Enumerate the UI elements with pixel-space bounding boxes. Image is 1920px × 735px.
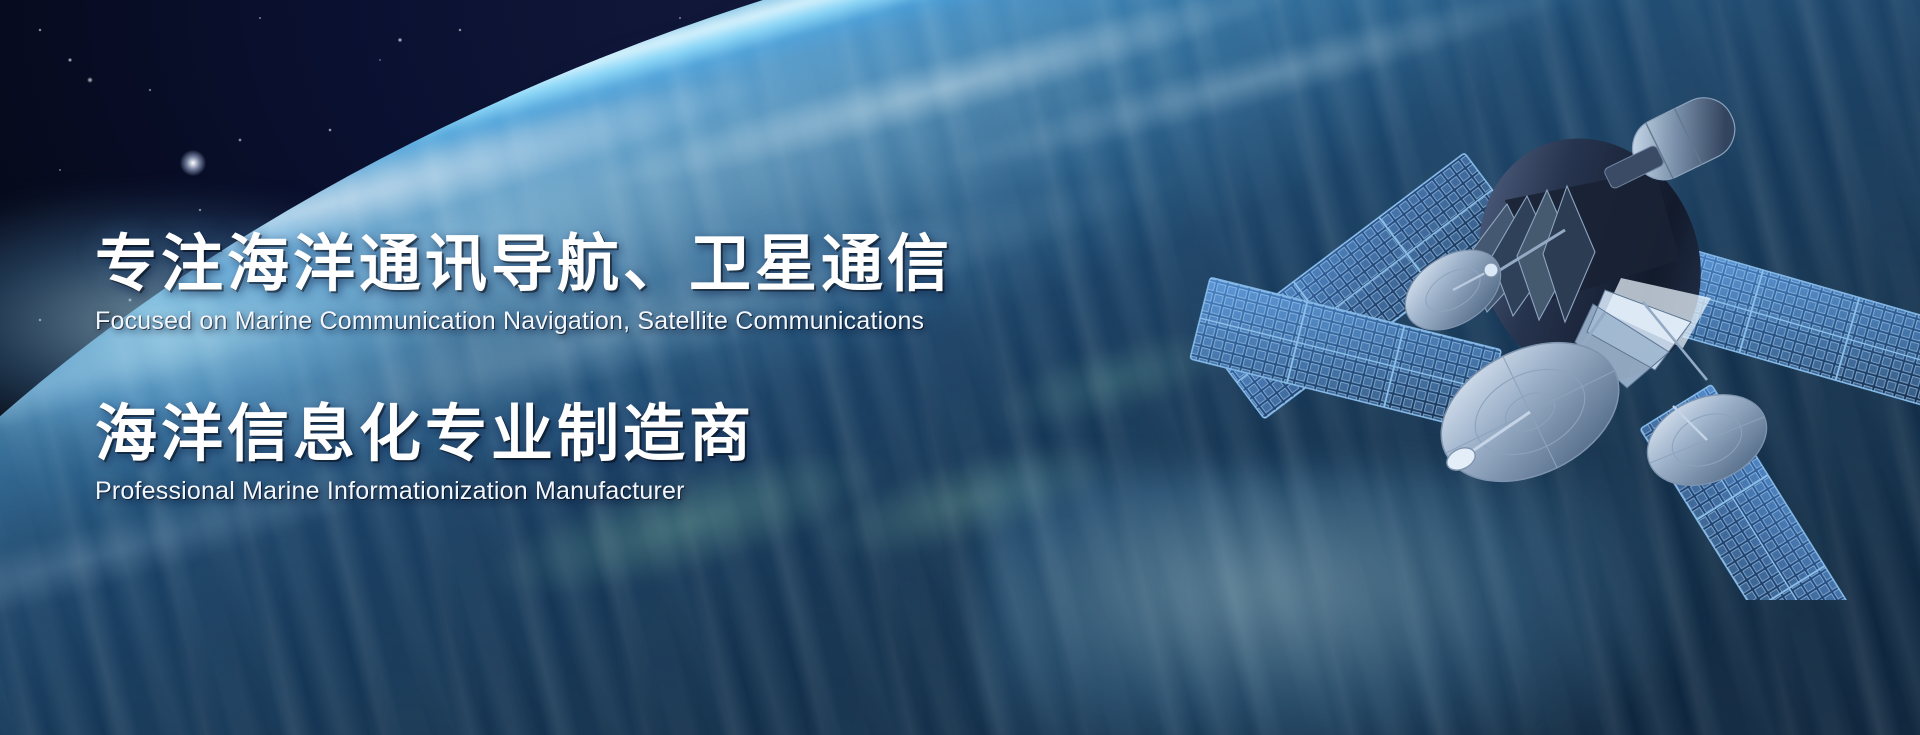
hero-banner: 专注海洋通讯导航、卫星通信 Focused on Marine Communic… — [0, 0, 1920, 735]
secondary-subline: Professional Marine Informationization M… — [95, 477, 1215, 506]
slogan-container: 专注海洋通讯导航、卫星通信 Focused on Marine Communic… — [95, 228, 1215, 568]
slogan-block-secondary: 海洋信息化专业制造商 Professional Marine Informati… — [95, 398, 1215, 506]
secondary-headline: 海洋信息化专业制造商 — [95, 398, 1215, 471]
primary-subline: Focused on Marine Communication Navigati… — [95, 307, 1215, 336]
slogan-block-primary: 专注海洋通讯导航、卫星通信 Focused on Marine Communic… — [95, 228, 1215, 336]
primary-headline: 专注海洋通讯导航、卫星通信 — [95, 228, 1215, 301]
